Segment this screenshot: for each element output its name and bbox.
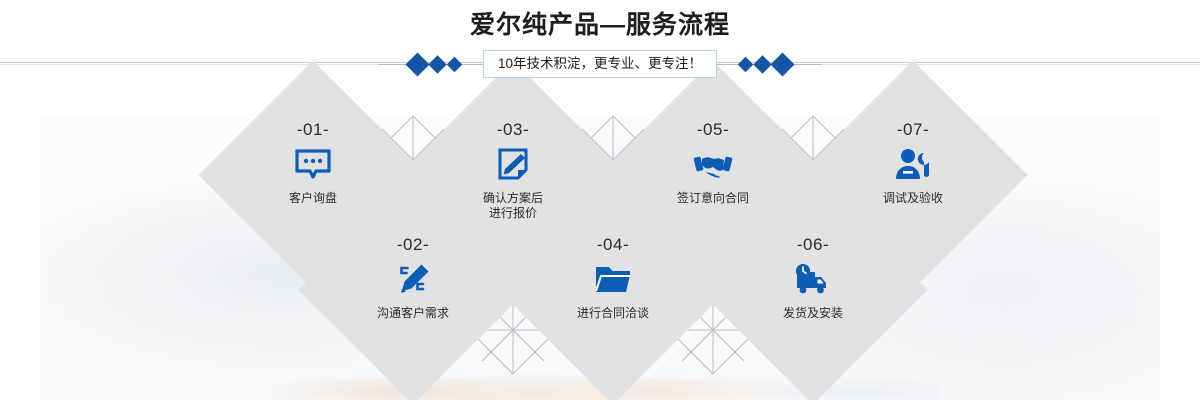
subtitle-badge: 10年技术积淀，更专业、更专注！	[483, 50, 717, 78]
flow-step-card-07[interactable]: -07- 调试及验收	[798, 60, 1027, 289]
diamond-small-left	[447, 56, 463, 72]
step-label-03-line2: 进行报价	[489, 206, 537, 221]
step-label-06: 发货及安装	[783, 306, 843, 321]
step-number-07: -07-	[897, 120, 929, 140]
step-number-06: -06-	[797, 235, 829, 255]
step-label-07: 调试及验收	[883, 191, 943, 206]
step-label-04: 进行合同洽谈	[577, 306, 649, 321]
speech-bubble-icon	[293, 145, 333, 185]
step-label-05: 签订意向合同	[677, 191, 749, 206]
step-number-01: -01-	[297, 120, 329, 140]
technician-wrench-icon	[893, 145, 933, 185]
delivery-truck-icon	[793, 260, 833, 300]
diamond-ornament-right	[712, 50, 821, 78]
diamond-large-left	[405, 52, 429, 76]
step-number-05: -05-	[697, 120, 729, 140]
step-label-01: 客户询盘	[289, 191, 337, 206]
diamond-medium-left	[428, 55, 446, 73]
diamond-medium-right	[753, 55, 771, 73]
step-label-02: 沟通客户需求	[377, 306, 449, 321]
step-label-03-line1: 确认方案后	[483, 191, 543, 206]
step-number-02: -02-	[397, 235, 429, 255]
ornament-line-outer-right	[791, 64, 821, 65]
service-flow-banner: 爱尔纯产品—服务流程 10年技术积淀，更专业、更专注！	[0, 0, 1200, 400]
diamond-ornament-left	[379, 50, 488, 78]
diamond-small-right	[738, 56, 754, 72]
document-pen-icon	[493, 145, 533, 185]
folder-icon	[593, 260, 633, 300]
pencil-edit-icon	[393, 260, 433, 300]
diamond-large-right	[770, 52, 794, 76]
step-number-04: -04-	[597, 235, 629, 255]
step-number-03: -03-	[497, 120, 529, 140]
handshake-icon	[693, 145, 733, 185]
